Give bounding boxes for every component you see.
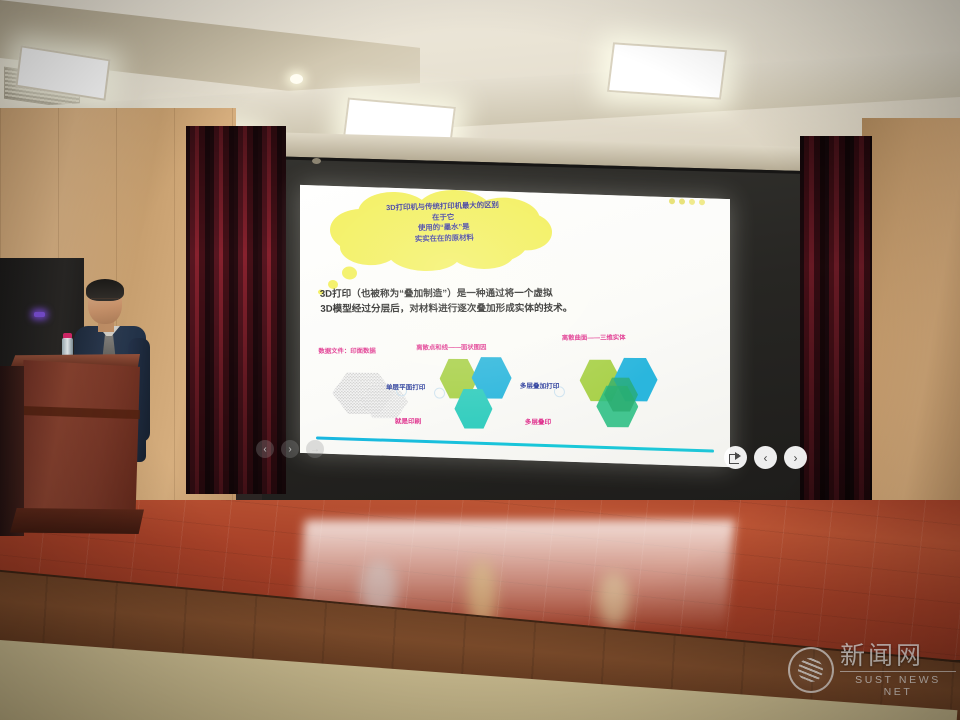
projection-screen: 3D打印机与传统打印机最大的区别 在于它 使用的“墨水”是 实实在在的原材料 3… [300,185,730,467]
valance-knob [312,158,321,164]
slide-paragraph: 3D打印（也被称为“叠加制造”）是一种通过将一个虚拟 3D模型经过分层后，对材料… [320,285,717,316]
bubble-trail-large [342,266,357,279]
stage-curtain-left [186,126,286,494]
av-status-led-icon [34,312,45,317]
chevron-right-icon-dim: › [288,444,291,455]
prev-button-left[interactable]: ‹ [256,440,274,458]
watermark-cn: 新闻网 [840,643,956,669]
paragraph-line-2: 3D模型经过分层后，对材料进行逐次叠加形成实体的技术。 [320,300,716,316]
slide-nav-controls-right[interactable]: ‹ › [724,446,807,469]
thought-bubble: 3D打印机与传统打印机最大的区别 在于它 使用的“墨水”是 实实在在的原材料 [324,190,554,276]
grid-dot-21 [669,198,675,204]
hexagon-graphics: 单层平面打印 就是印刷 多层叠加打印 多层叠印 [307,353,723,433]
grid-dot-24 [699,199,705,205]
speaker-glasses-icon [91,298,119,305]
label-is-printing: 就是印刷 [395,415,422,425]
ghost-ring-2 [434,388,445,399]
label-single-layer-print: 单层平面打印 [386,381,426,391]
news-watermark: 新闻网 SUST NEWS NET [788,628,956,712]
pink-caption-2: 离散点和线——面状图因 [416,342,487,351]
play-button-left[interactable]: › [281,440,299,458]
chevron-left-icon-dim: ‹ [263,444,266,455]
share-button-left[interactable]: → [306,440,324,458]
share-button[interactable] [724,446,747,469]
chevron-right-icon: › [794,451,798,465]
share-icon [729,452,742,463]
next-button[interactable]: › [784,446,807,469]
thought-bubble-text: 3D打印机与传统打印机最大的区别 在于它 使用的“墨水”是 实实在在的原材料 [345,199,542,246]
stage-curtain-right [800,136,872,508]
slide-accent-bar [316,436,714,452]
prev-button[interactable]: ‹ [754,446,777,469]
panel-light-3 [607,42,727,100]
paragraph-line-1: 3D打印（也被称为“叠加制造”）是一种通过将一个虚拟 [320,285,716,301]
share-icon-dim: → [310,444,320,455]
reflection-blob-3 [598,572,630,628]
downlight-1 [290,74,303,84]
watermark-en: SUST NEWS NET [840,671,956,698]
label-multi-layer-print: 多层叠加打印 [520,380,560,390]
pink-caption-3: 离散曲面——三维实体 [562,332,626,341]
slide-nav-controls-left[interactable]: ‹ › → [256,440,324,458]
lecture-hall-photo: i 3D打印机与传统打印机最大的区别 在于它 使用的 [0,0,960,720]
label-multi-layer-sub: 多层叠印 [525,416,552,426]
grid-dot-23 [689,199,695,205]
grid-dot-22 [679,198,685,204]
sust-emblem-icon [788,647,834,693]
podium-base [10,508,144,534]
watermark-text: 新闻网 SUST NEWS NET [840,643,956,698]
podium [16,360,140,532]
presentation-slide: 3D打印机与传统打印机最大的区别 在于它 使用的“墨水”是 实实在在的原材料 3… [300,185,730,467]
chevron-left-icon: ‹ [764,451,768,465]
